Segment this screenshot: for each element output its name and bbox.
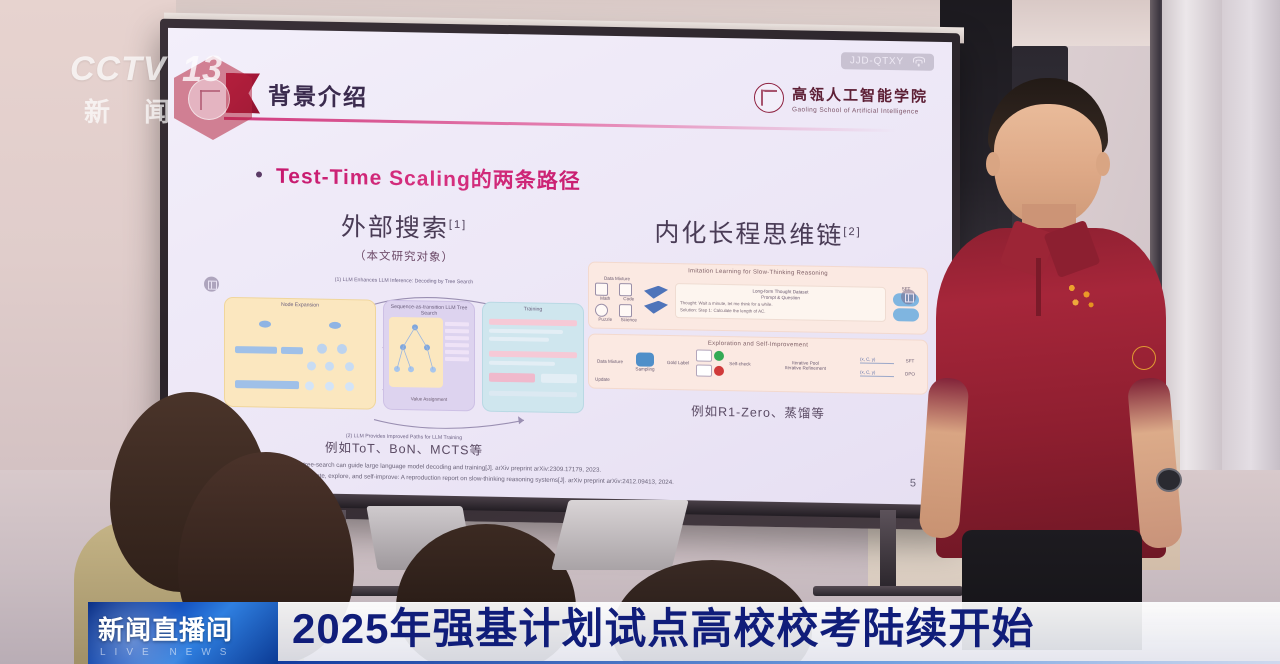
diagram-block-training: Training — [482, 302, 584, 414]
channel-name-cn: 新闻 — [84, 92, 204, 129]
column-ref-right: [2] — [843, 226, 861, 238]
broadcast-frame: JJD-QTXY 背景介绍 高瓴人工智能学院 Gaoling School of… — [0, 0, 1280, 664]
label-code: Code — [619, 296, 640, 301]
column-ref-left: [1] — [449, 219, 467, 231]
label-sampling: Sampling — [630, 366, 660, 372]
bullet-heading: Test-Time Scaling的两条路径 — [276, 160, 581, 196]
column-caption-right: 例如R1-Zero、蒸馏等 — [588, 399, 928, 424]
check-icon — [714, 351, 724, 361]
sft-pill-b — [893, 308, 919, 321]
wifi-icon — [912, 56, 925, 67]
laptop-right — [551, 500, 688, 570]
code-icon — [619, 283, 632, 296]
sample-card-ok — [696, 349, 712, 361]
sample-card-bad — [696, 364, 712, 376]
cross-icon — [714, 366, 724, 376]
display-screen[interactable]: JJD-QTXY 背景介绍 高瓴人工智能学院 Gaoling School of… — [168, 28, 952, 508]
diagram-block-tree-search: Sequence-as-transition LLM Tree Search — [383, 300, 475, 412]
diagram-tree-search: (1) LLM Enhances LLM Inference: Decoding… — [224, 275, 584, 432]
block-label-0: Node Expansion — [225, 298, 375, 310]
bullet-dot-icon — [256, 171, 262, 177]
presenter-ear-right — [1096, 152, 1110, 176]
diagram-arc-top-label: (1) LLM Enhances LLM Inference: Decoding… — [224, 275, 584, 289]
device-status-chip: JJD-QTXY — [841, 52, 934, 71]
presenter-placket — [1036, 258, 1041, 316]
presenter-sleeve-badge — [1132, 346, 1156, 370]
presenter-wristwatch — [1156, 468, 1182, 492]
block-sublabel-value-assignment: Value Assignment — [384, 396, 474, 403]
label-iterative-refinement: Iterative Refinement — [756, 364, 855, 371]
label-puzzle: Puzzle — [595, 317, 616, 322]
presenter — [918, 78, 1248, 598]
slide-bullet: Test-Time Scaling的两条路径 — [256, 159, 581, 195]
math-icon — [595, 283, 608, 296]
science-icon — [619, 304, 632, 317]
slide-column-right: 内化长程思维链[2] Imitation Learning for Slow-T… — [588, 212, 928, 424]
news-headline: 2025年强基计划试点高校校考陆续开始 — [292, 602, 1034, 656]
label-data-mixture-2: Data Mixture — [595, 359, 625, 365]
display-menu-button-right[interactable] — [901, 289, 916, 304]
slide-column-left: 外部搜索[1] （本文研究对象） (1) LLM Enhances LLM In… — [224, 205, 584, 461]
brand-name-cn: 高瓴人工智能学院 — [792, 83, 928, 106]
seal-icon — [754, 83, 784, 114]
column-title-left: 外部搜索[1] — [224, 205, 584, 248]
thought-dataset-box: Long-form Thought Dataset Prompt & Quest… — [675, 283, 886, 322]
label-math: Math — [595, 296, 616, 301]
puzzle-icon — [595, 304, 608, 317]
channel-watermark: CCTV 13 新闻 — [70, 50, 260, 136]
label-self-check: Self-check — [729, 361, 751, 366]
diagram-block-node-expansion: Node Expansion — [224, 297, 376, 410]
column-title-left-text: 外部搜索 — [341, 213, 449, 243]
column-subtitle-left: （本文研究对象） — [224, 245, 584, 268]
panel-imitation-learning: Imitation Learning for Slow-Thinking Rea… — [588, 262, 928, 335]
panel-exploration: Exploration and Self-Improvement Data Mi… — [588, 334, 928, 395]
diagram-blocks: Node Expansion — [224, 297, 584, 414]
program-logo: 新闻直播间 LIVE NEWS — [88, 602, 278, 664]
model-icon-b — [644, 301, 668, 314]
diagram-slow-thinking: Imitation Learning for Slow-Thinking Rea… — [588, 262, 928, 395]
presenter-chest-embroidery — [1058, 276, 1104, 316]
column-title-right: 内化长程思维链[2] — [588, 212, 928, 254]
formula-top: (x, C, y) — [860, 356, 894, 364]
program-name-en: LIVE NEWS — [100, 647, 235, 658]
label-data-mixture: Data Mixture — [595, 276, 639, 282]
brand-name-en: Gaoling School of Artificial Intelligenc… — [792, 106, 928, 115]
presentation-slide: JJD-QTXY 背景介绍 高瓴人工智能学院 Gaoling School of… — [168, 28, 952, 508]
column-title-right-text: 内化长程思维链 — [654, 219, 843, 250]
slide-section-title: 背景介绍 — [268, 77, 368, 113]
block-label-2: Training — [483, 303, 583, 314]
label-gold-label: Gold Label — [665, 360, 691, 365]
institution-brand: 高瓴人工智能学院 Gaoling School of Artificial In… — [754, 83, 928, 116]
lower-third: 新闻直播间 LIVE NEWS 2025年强基计划试点高校校考陆续开始 — [0, 598, 1280, 664]
block-label-1: Sequence-as-transition LLM Tree Search — [384, 301, 474, 318]
title-underline — [224, 117, 896, 132]
slide-page-number: 5 — [910, 477, 916, 489]
program-name-cn: 新闻直播间 — [98, 610, 233, 647]
presenter-ear-left — [986, 152, 1000, 176]
display-leg-right — [880, 510, 896, 590]
formula-bottom: (x, C, y) — [860, 369, 894, 377]
device-label: JJD-QTXY — [850, 55, 904, 67]
display-menu-button-left[interactable] — [204, 276, 219, 291]
model-icon-a — [644, 286, 668, 299]
label-science: Science — [619, 317, 640, 322]
